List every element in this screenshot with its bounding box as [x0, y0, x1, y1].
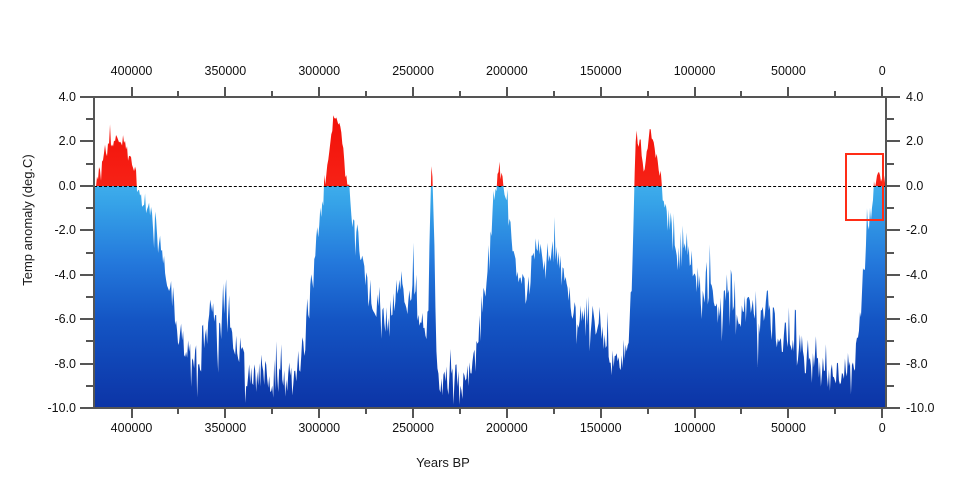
y-tick-major-right	[886, 274, 900, 276]
zero-reference-line	[94, 186, 886, 187]
y-tick-major-right	[886, 96, 900, 98]
y-tick-label-right--6.0: -6.0	[906, 312, 955, 326]
y-tick-label-right--4.0: -4.0	[906, 268, 955, 282]
x-tick-label-bottom-350000: 350000	[205, 421, 247, 435]
y-tick-minor-left	[86, 252, 94, 254]
x-tick-major-bottom	[318, 408, 320, 418]
x-tick-label-bottom-400000: 400000	[111, 421, 153, 435]
x-tick-minor-bottom	[365, 408, 367, 414]
y-tick-major-left	[80, 229, 94, 231]
y-tick-label-right--10.0: -10.0	[906, 401, 955, 415]
x-tick-label-top-350000: 350000	[205, 64, 247, 78]
x-tick-label-top-400000: 400000	[111, 64, 153, 78]
x-tick-major-top	[694, 87, 696, 97]
chart-figure: 4000004000003500003500003000003000002500…	[0, 0, 955, 485]
y-tick-label-right-2.0: 2.0	[906, 134, 955, 148]
x-tick-label-top-50000: 50000	[771, 64, 806, 78]
y-tick-major-right	[886, 140, 900, 142]
y-tick-label-left--6.0: -6.0	[24, 312, 76, 326]
x-tick-major-bottom	[224, 408, 226, 418]
area-chart-svg	[94, 97, 886, 408]
holocene-highlight-box	[845, 153, 884, 222]
y-tick-major-left	[80, 274, 94, 276]
y-tick-label-right-4.0: 4.0	[906, 90, 955, 104]
y-tick-major-right	[886, 185, 900, 187]
plot-area	[94, 97, 886, 408]
y-tick-label-left-4.0: 4.0	[24, 90, 76, 104]
y-tick-label-right--8.0: -8.0	[906, 357, 955, 371]
x-axis-top-spine	[94, 96, 886, 98]
x-tick-minor-bottom	[177, 408, 179, 414]
x-tick-major-bottom	[881, 408, 883, 418]
y-tick-major-right	[886, 407, 900, 409]
area-fill-below-zero	[94, 115, 886, 408]
y-tick-minor-right	[886, 385, 894, 387]
x-tick-major-bottom	[131, 408, 133, 418]
x-tick-label-bottom-150000: 150000	[580, 421, 622, 435]
y-tick-major-right	[886, 363, 900, 365]
y-tick-major-left	[80, 407, 94, 409]
x-tick-label-top-100000: 100000	[674, 64, 716, 78]
y-tick-label-left--10.0: -10.0	[24, 401, 76, 415]
x-tick-minor-top	[647, 91, 649, 97]
x-tick-label-top-150000: 150000	[580, 64, 622, 78]
x-tick-minor-bottom	[271, 408, 273, 414]
x-axis-bottom-spine	[94, 407, 886, 409]
x-tick-minor-bottom	[647, 408, 649, 414]
y-tick-minor-left	[86, 207, 94, 209]
y-tick-minor-left	[86, 340, 94, 342]
x-tick-minor-bottom	[834, 408, 836, 414]
y-tick-major-left	[80, 140, 94, 142]
x-tick-minor-bottom	[553, 408, 555, 414]
y-axis-title: Temp anomaly (deg.C)	[20, 130, 35, 310]
y-tick-minor-right	[886, 163, 894, 165]
y-tick-minor-right	[886, 118, 894, 120]
x-tick-major-bottom	[600, 408, 602, 418]
x-tick-minor-top	[740, 91, 742, 97]
x-tick-label-top-0: 0	[879, 64, 886, 78]
y-tick-label-left--8.0: -8.0	[24, 357, 76, 371]
y-tick-minor-left	[86, 118, 94, 120]
x-tick-major-bottom	[787, 408, 789, 418]
x-tick-minor-top	[459, 91, 461, 97]
y-tick-label-right-0.0: 0.0	[906, 179, 955, 193]
x-tick-major-top	[881, 87, 883, 97]
y-tick-major-right	[886, 229, 900, 231]
x-tick-major-top	[412, 87, 414, 97]
x-tick-major-bottom	[412, 408, 414, 418]
y-tick-major-left	[80, 185, 94, 187]
x-tick-label-bottom-50000: 50000	[771, 421, 806, 435]
x-tick-minor-top	[177, 91, 179, 97]
x-tick-minor-top	[365, 91, 367, 97]
x-tick-label-bottom-200000: 200000	[486, 421, 528, 435]
y-tick-minor-left	[86, 385, 94, 387]
x-tick-major-top	[600, 87, 602, 97]
y-tick-minor-right	[886, 296, 894, 298]
y-tick-label-right--2.0: -2.0	[906, 223, 955, 237]
x-tick-label-bottom-300000: 300000	[298, 421, 340, 435]
x-tick-major-bottom	[506, 408, 508, 418]
x-tick-minor-top	[553, 91, 555, 97]
x-tick-label-bottom-0: 0	[879, 421, 886, 435]
x-tick-label-bottom-250000: 250000	[392, 421, 434, 435]
y-tick-major-left	[80, 96, 94, 98]
x-tick-major-top	[506, 87, 508, 97]
x-tick-minor-top	[271, 91, 273, 97]
series-temp-anomaly	[94, 115, 886, 408]
x-tick-major-top	[131, 87, 133, 97]
x-tick-major-bottom	[694, 408, 696, 418]
x-tick-major-top	[224, 87, 226, 97]
y-tick-minor-right	[886, 340, 894, 342]
y-tick-major-left	[80, 318, 94, 320]
x-tick-minor-bottom	[459, 408, 461, 414]
x-tick-label-top-250000: 250000	[392, 64, 434, 78]
y-tick-major-left	[80, 363, 94, 365]
x-tick-label-top-200000: 200000	[486, 64, 528, 78]
x-tick-label-bottom-100000: 100000	[674, 421, 716, 435]
y-tick-major-right	[886, 318, 900, 320]
x-tick-minor-bottom	[740, 408, 742, 414]
y-tick-minor-right	[886, 207, 894, 209]
x-tick-major-top	[318, 87, 320, 97]
x-tick-major-top	[787, 87, 789, 97]
y-tick-minor-left	[86, 163, 94, 165]
x-axis-title: Years BP	[0, 455, 886, 470]
x-tick-label-top-300000: 300000	[298, 64, 340, 78]
y-tick-minor-left	[86, 296, 94, 298]
x-tick-minor-top	[834, 91, 836, 97]
y-tick-minor-right	[886, 252, 894, 254]
